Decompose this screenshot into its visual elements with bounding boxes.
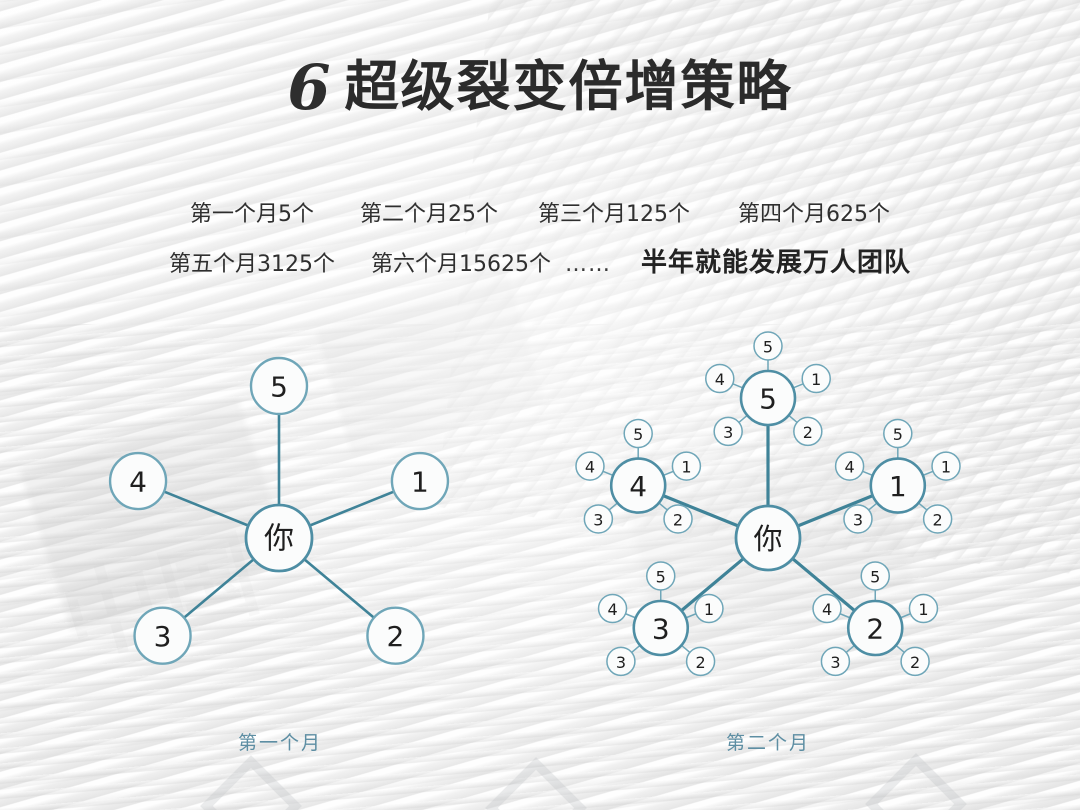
link-node-2-to-child-4 [840, 614, 850, 618]
node-1-child-5-label: 5 [893, 425, 903, 444]
node-1-child-4-label: 4 [844, 458, 854, 477]
node-5: 5 [741, 371, 795, 425]
link-node-5-to-child-3 [739, 415, 747, 422]
link-node-5-to-child-2 [789, 415, 797, 422]
node-2-child-1: 1 [909, 595, 937, 623]
node-3-child-1: 1 [695, 595, 723, 623]
node-2-child-5: 5 [861, 562, 889, 590]
link-node-3-to-child-4 [626, 614, 636, 618]
node-2-child-3: 3 [821, 647, 849, 675]
node-2-child-4-label: 4 [822, 600, 832, 619]
node-1-child-3-label: 3 [853, 510, 863, 529]
link-node-1-to-child-1 [923, 471, 933, 475]
link-node-2-to-child-1 [900, 614, 910, 618]
node-4-child-1: 1 [672, 452, 700, 480]
node-1-child-2: 2 [924, 505, 952, 533]
node-2-child-1-label: 1 [918, 600, 928, 619]
link-node-4-to-child-1 [663, 471, 673, 475]
node-4-label: 4 [629, 470, 647, 503]
node-3-child-2-label: 2 [695, 653, 705, 672]
link-node-3-to-child-3 [632, 645, 640, 652]
node-5-child-2-label: 2 [803, 423, 813, 442]
node-5-child-4: 4 [706, 365, 734, 393]
node-center-you-label: 你 [753, 522, 782, 556]
node-3-child-1-label: 1 [704, 600, 714, 619]
caption-month-two: 第二个月 [618, 728, 918, 755]
node-5-child-1-label: 1 [811, 370, 821, 389]
node-1-child-1: 1 [932, 452, 960, 480]
node-2-child-4: 4 [813, 595, 841, 623]
node-4-child-4-label: 4 [585, 458, 595, 477]
link-node-2-to-child-3 [846, 645, 854, 652]
node-2-child-5-label: 5 [870, 567, 880, 586]
node-5-label: 5 [759, 383, 777, 416]
node-2-label: 2 [866, 612, 884, 645]
link-node-5-to-child-4 [733, 384, 743, 388]
diagram-month-two-svg: 1234512345123451234512345 12345你 [0, 0, 1080, 780]
node-1-label: 1 [889, 470, 907, 503]
node-4-child-3-label: 3 [593, 510, 603, 529]
node-1-child-3: 3 [844, 505, 872, 533]
node-4-child-2-label: 2 [673, 510, 683, 529]
node-3-child-5: 5 [647, 562, 675, 590]
node-5-child-2: 2 [794, 417, 822, 445]
node-5-child-1: 1 [802, 365, 830, 393]
node-2-child-2-label: 2 [910, 653, 920, 672]
diagram-month-two: 1234512345123451234512345 12345你 [0, 0, 1080, 780]
link-node-1-to-child-3 [869, 503, 877, 510]
link-node-3-to-child-2 [681, 645, 689, 652]
node-1-child-5: 5 [884, 420, 912, 448]
node-1: 1 [871, 459, 925, 513]
node-1-child-1-label: 1 [941, 458, 951, 477]
node-4-child-1-label: 1 [681, 458, 691, 477]
slide-canvas: 中国 6超级裂变倍增策略 第一个月5个 第二个月25个 第三个月125个 第四个… [0, 0, 1080, 810]
link-node-2-to-child-2 [896, 645, 904, 652]
link-node-1-to-child-2 [918, 503, 926, 510]
node-3-child-3-label: 3 [616, 653, 626, 672]
node-2-child-3-label: 3 [830, 653, 840, 672]
node-3-label: 3 [652, 612, 670, 645]
node-3-child-3: 3 [607, 647, 635, 675]
node-2: 2 [848, 601, 902, 655]
node-3-child-5-label: 5 [656, 567, 666, 586]
node-3: 3 [634, 601, 688, 655]
node-4-child-2: 2 [664, 505, 692, 533]
node-5-child-3-label: 3 [723, 423, 733, 442]
node-5-child-3: 3 [714, 417, 742, 445]
node-4-child-5: 5 [624, 420, 652, 448]
node-4-child-4: 4 [576, 452, 604, 480]
diagram-month-two-nodes: 12345你 [611, 371, 925, 655]
node-1-child-2-label: 2 [933, 510, 943, 529]
link-node-1-to-child-4 [863, 471, 873, 475]
link-node-3-to-child-1 [686, 614, 696, 618]
node-4-child-5-label: 5 [633, 425, 643, 444]
node-2-child-2: 2 [901, 647, 929, 675]
link-node-4-to-child-3 [609, 503, 617, 510]
link-node-4-to-child-4 [603, 471, 613, 475]
node-1-child-4: 4 [836, 452, 864, 480]
node-3-child-4-label: 4 [607, 600, 617, 619]
node-5-child-4-label: 4 [715, 370, 725, 389]
node-3-child-2: 2 [687, 647, 715, 675]
link-node-4-to-child-2 [659, 503, 667, 510]
link-node-5-to-child-1 [793, 384, 803, 388]
node-4: 4 [611, 459, 665, 513]
node-3-child-4: 4 [599, 595, 627, 623]
node-center-you: 你 [736, 506, 800, 570]
node-5-child-5: 5 [754, 332, 782, 360]
node-5-child-5-label: 5 [763, 338, 773, 357]
node-4-child-3: 3 [584, 505, 612, 533]
